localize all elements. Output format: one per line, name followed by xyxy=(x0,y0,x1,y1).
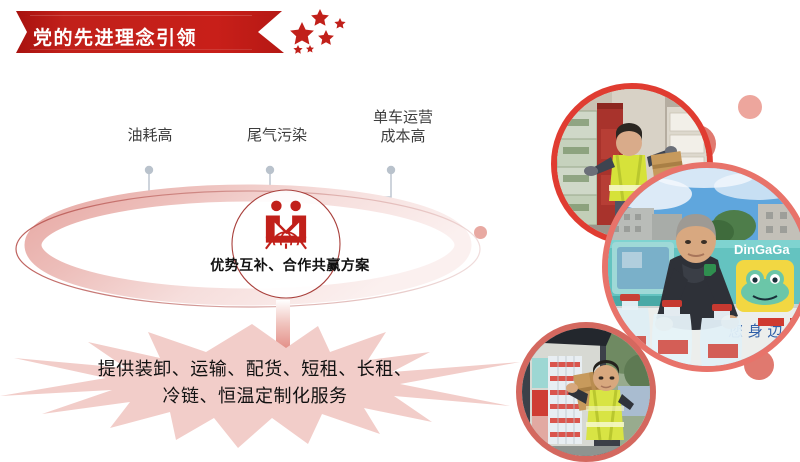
outcome-line-2: 冷链、恒温定制化服务 xyxy=(55,383,455,410)
header-divider xyxy=(18,61,788,63)
outcome-line-1: 提供装卸、运输、配货、短租、长租、 xyxy=(55,356,455,383)
problem-label-2: 单车运营 成本高 xyxy=(348,108,458,146)
photo-van-unloading-image xyxy=(522,328,650,456)
svg-text:DinGaGa: DinGaGa xyxy=(734,242,790,257)
handshake-globe-icon xyxy=(258,198,314,254)
five-point-stars-icon xyxy=(272,4,362,60)
problem-label-1: 尾气污染 xyxy=(222,126,332,145)
photo-van-unloading xyxy=(516,322,656,462)
problem-label-0: 油耗高 xyxy=(95,126,205,145)
hub-label: 优势互补、合作共赢方案 xyxy=(150,255,430,275)
slide-canvas: 党的先进理念引领 油耗高 尾气污染 单车运营 成本高 xyxy=(0,0,800,450)
deco-dot-small xyxy=(738,95,762,119)
header-banner: 党的先进理念引领 xyxy=(0,8,360,54)
deco-dot-mid xyxy=(474,226,487,239)
banner-title: 党的先进理念引领 xyxy=(33,23,263,53)
connector-dot xyxy=(145,166,395,174)
outcome-text: 提供装卸、运输、配货、短租、长租、 冷链、恒温定制化服务 xyxy=(55,356,455,410)
